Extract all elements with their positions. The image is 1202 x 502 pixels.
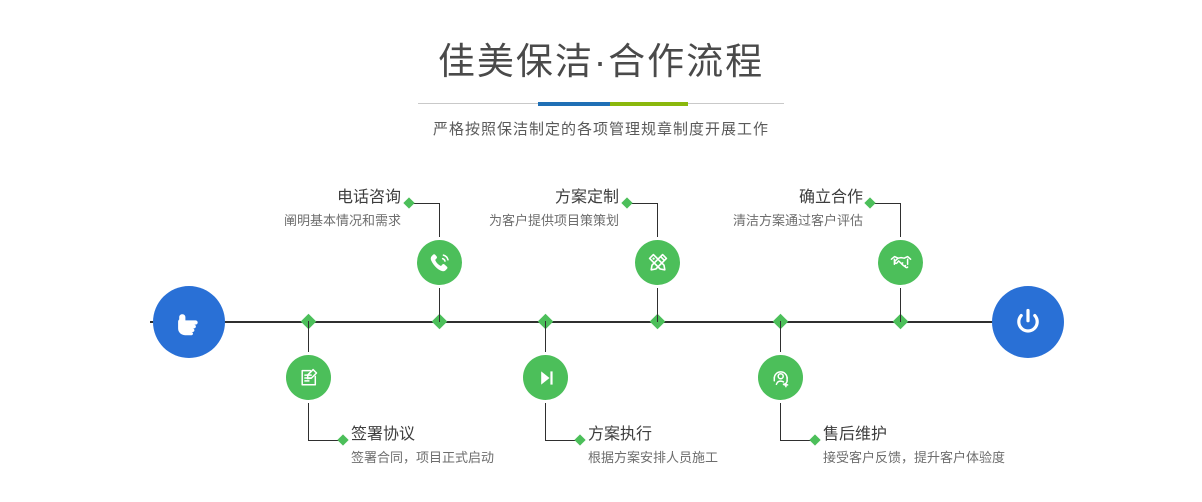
step-title: 确立合作 <box>690 188 863 208</box>
play-forward-icon <box>533 365 559 391</box>
step-title: 签署协议 <box>351 425 601 445</box>
step-desc: 阐明基本情况和需求 <box>205 211 401 231</box>
branch-marker-bottom-1 <box>337 434 348 445</box>
page-title: 佳美保洁·合作流程 <box>0 38 1202 86</box>
step-desc: 签署合同，项目正式启动 <box>351 448 601 468</box>
infographic-canvas: 佳美保洁·合作流程 严格按照保洁制定的各项管理规章制度开展工作 <box>0 0 1202 502</box>
pointing-hand-icon <box>169 302 209 342</box>
step-title: 方案定制 <box>430 188 619 208</box>
step-desc: 根据方案安排人员施工 <box>588 448 828 468</box>
step-desc: 为客户提供项目策策划 <box>430 211 619 231</box>
start-node-pointing-hand[interactable] <box>153 286 225 358</box>
page-subtitle: 严格按照保洁制定的各项管理规章制度开展工作 <box>0 118 1202 139</box>
step-label-bottom-2: 方案执行 根据方案安排人员施工 <box>588 425 828 468</box>
step-label-bottom-1: 签署协议 签署合同，项目正式启动 <box>351 425 601 468</box>
divider-segment-green <box>610 102 688 106</box>
timeline-axis <box>150 321 1052 323</box>
branch-marker-top-1 <box>403 197 414 208</box>
pencil-ruler-icon <box>645 250 671 276</box>
header: 佳美保洁·合作流程 严格按照保洁制定的各项管理规章制度开展工作 <box>0 0 1202 139</box>
branch-marker-top-3 <box>864 197 875 208</box>
document-sign-icon <box>296 365 322 391</box>
connector-elbow-top-3 <box>874 203 901 204</box>
title-divider <box>418 102 784 106</box>
step-desc: 接受客户反馈，提升客户体验度 <box>823 448 1123 468</box>
step-label-top-3: 确立合作 清洁方案通过客户评估 <box>690 188 863 231</box>
connector-elbow-top-2 <box>631 203 658 204</box>
step-icon-top-2[interactable] <box>635 240 680 285</box>
handshake-icon <box>888 250 914 276</box>
connector-elbow-bottom-1 <box>308 440 341 441</box>
step-title: 售后维护 <box>823 425 1123 445</box>
step-label-top-1: 电话咨询 阐明基本情况和需求 <box>205 188 401 231</box>
connector-elbow-bottom-3 <box>780 440 813 441</box>
step-desc: 清洁方案通过客户评估 <box>690 211 863 231</box>
step-icon-bottom-2[interactable] <box>523 355 568 400</box>
step-label-top-2: 方案定制 为客户提供项目策策划 <box>430 188 619 231</box>
power-icon <box>1008 302 1048 342</box>
step-title: 方案执行 <box>588 425 828 445</box>
step-icon-top-3[interactable] <box>878 240 923 285</box>
divider-segment-blue <box>538 102 610 106</box>
step-icon-bottom-3[interactable] <box>758 355 803 400</box>
end-node-power[interactable] <box>992 286 1064 358</box>
phone-call-icon <box>427 250 453 276</box>
step-label-bottom-3: 售后维护 接受客户反馈，提升客户体验度 <box>823 425 1123 468</box>
connector-elbow-bottom-2 <box>545 440 578 441</box>
branch-marker-top-2 <box>621 197 632 208</box>
step-title: 电话咨询 <box>205 188 401 208</box>
step-icon-top-1[interactable] <box>417 240 462 285</box>
headset-support-icon <box>768 365 794 391</box>
step-icon-bottom-1[interactable] <box>286 355 331 400</box>
